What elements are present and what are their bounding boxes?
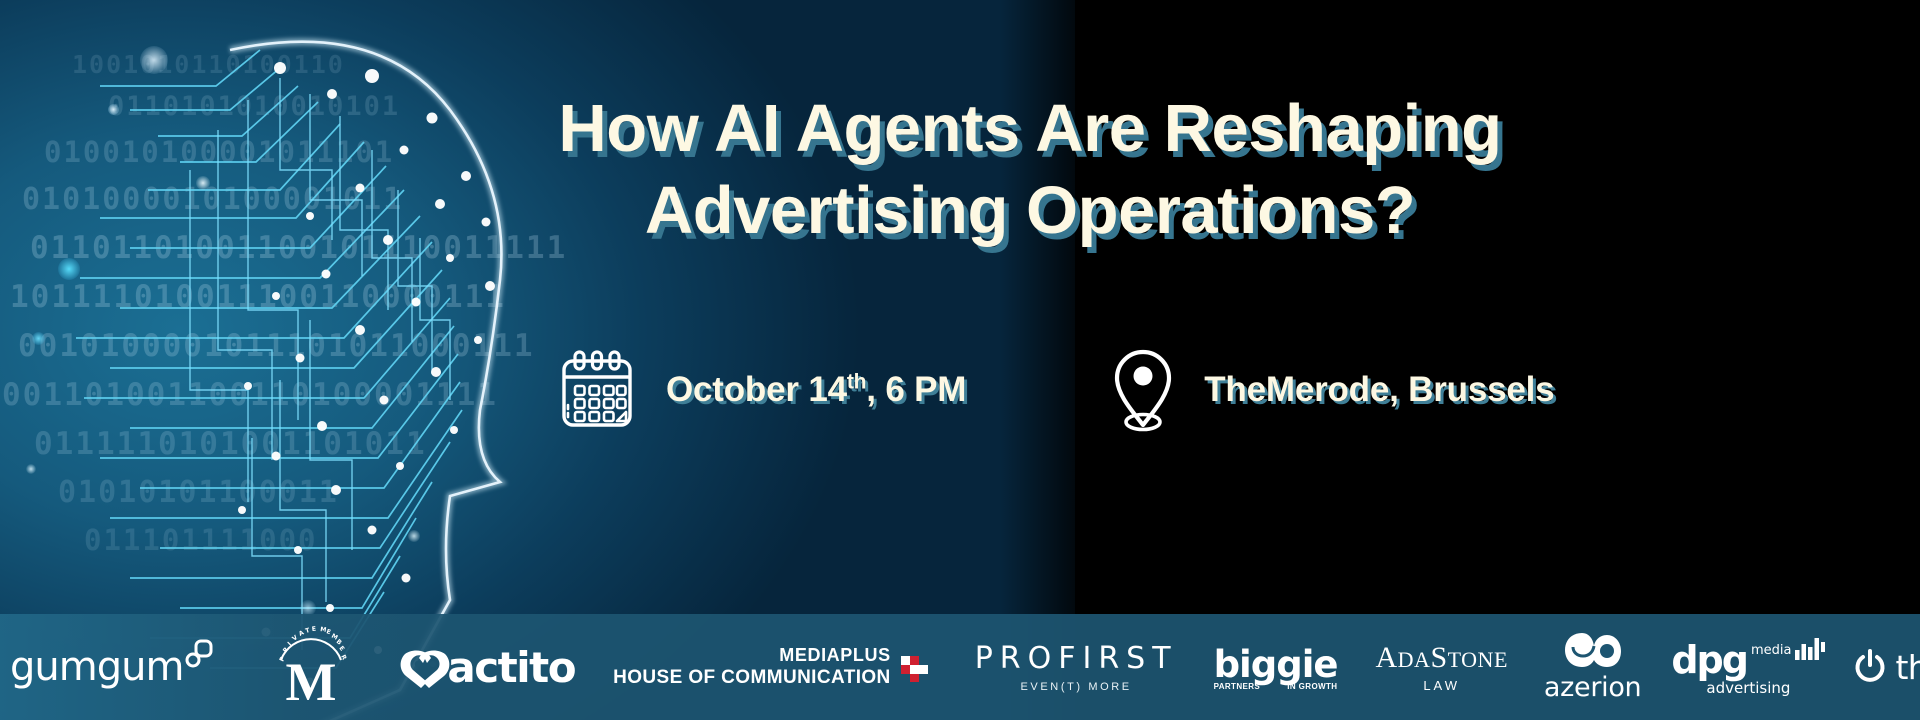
page-title: How AI Agents Are Reshaping Advertising … (510, 88, 1550, 251)
map-pin-icon (1112, 347, 1174, 433)
logo-azerion-wordmark: azerion (1544, 672, 1641, 703)
event-date-item: October 14th, 6 PM (558, 349, 966, 431)
logo-adastone-wordmark: ADASTONE (1375, 641, 1507, 675)
logo-gumgum[interactable]: gumgum (10, 614, 213, 720)
svg-text:T: T (305, 627, 312, 635)
logo-mediaplus-subline: HOUSE OF COMMUNICATION (613, 667, 891, 689)
logo-gumgum-wordmark: gumgum (10, 644, 183, 690)
logo-m-club[interactable]: P R I V A T E M E M B E R M (265, 614, 357, 720)
event-date-text: October 14th, 6 PM (666, 370, 966, 410)
logo-adastone-a: A (1375, 641, 1397, 674)
logo-profirst-wordmark: PROFIRST (975, 641, 1178, 676)
event-banner: 1001010110100110 0110101010010101 010010… (0, 0, 1920, 720)
bar-chart-icon (1795, 638, 1825, 660)
partner-logo-bar: gumgum P R I V A T E M E M (0, 614, 1920, 720)
logo-mediaplus-wordmark: MEDIAPLUS (779, 645, 890, 666)
logo-thetradedesk[interactable]: theTradeDesk® (1853, 614, 1920, 720)
logo-adastone[interactable]: ADASTONE LAW (1375, 614, 1507, 720)
logo-adastone-tone: TONE (1448, 647, 1508, 672)
logo-adastone-da: DA (1398, 647, 1431, 672)
logo-dpg-advertising-label: advertising (1706, 679, 1790, 697)
logo-biggie[interactable]: biggie PARTNERS IN GROWTH (1214, 614, 1338, 720)
logo-mediaplus[interactable]: MEDIAPLUS HOUSE OF COMMUNICATION (613, 614, 929, 720)
logo-biggie-tag-right: IN GROWTH (1287, 682, 1337, 691)
calendar-icon (558, 349, 636, 431)
chain-link-icon (185, 639, 213, 669)
title-line-1: How AI Agents Are Reshaping (510, 88, 1550, 170)
logo-dpg[interactable]: dpg media advertising (1671, 614, 1825, 720)
logo-adastone-s: S (1430, 641, 1447, 674)
logo-biggie-wordmark: biggie (1214, 643, 1338, 686)
m-club-emblem-icon: P R I V A T E M E M B E R M (265, 626, 357, 708)
title-line-2: Advertising Operations? (510, 170, 1550, 252)
logo-m-letter: M (286, 652, 337, 708)
svg-text:R: R (340, 654, 349, 662)
logo-actito[interactable]: actito (397, 614, 575, 720)
logo-actito-wordmark: actito (447, 643, 575, 692)
event-location-text: TheMerode, Brussels (1204, 370, 1554, 410)
logo-dpg-media-label: media (1751, 643, 1792, 658)
logo-thetradedesk-wordmark: theTradeDesk® (1895, 648, 1920, 687)
cloud-loop-icon (1564, 631, 1622, 671)
logo-azerion[interactable]: azerion (1544, 614, 1641, 720)
event-location-item: TheMerode, Brussels (1112, 347, 1554, 433)
logo-biggie-tag-left: PARTNERS (1214, 682, 1261, 691)
heart-hands-icon (397, 644, 453, 690)
logo-adastone-sub: LAW (1423, 678, 1460, 693)
logo-profirst[interactable]: PROFIRST EVEN(T) MORE (975, 614, 1178, 720)
logo-profirst-tagline: EVEN(T) MORE (1020, 681, 1131, 693)
svg-text:E: E (312, 626, 318, 633)
event-meta-row: October 14th, 6 PM TheMerode, Brussels (540, 336, 1580, 444)
logo-ttd-the: the (1895, 648, 1920, 687)
checker-mark-icon (901, 652, 929, 682)
power-icon (1853, 649, 1887, 685)
event-date-ordinal: th (847, 370, 866, 393)
event-date-time: , 6 PM (866, 370, 966, 409)
logo-dpg-wordmark: dpg (1671, 643, 1747, 677)
event-date-main: October 14 (666, 370, 847, 409)
